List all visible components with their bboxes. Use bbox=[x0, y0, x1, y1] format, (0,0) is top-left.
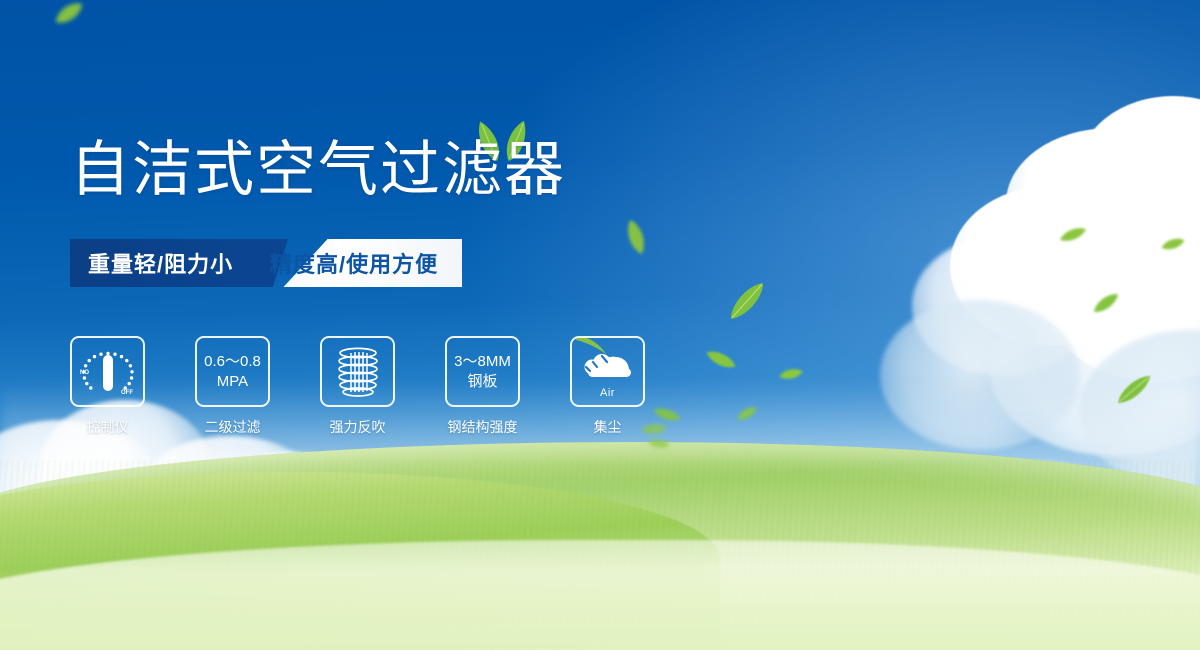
feature-item-backblow[interactable]: 强力反吹 bbox=[320, 336, 395, 437]
subtitle-bar: 重量轻/阻力小 精度高/使用方便 bbox=[70, 239, 462, 287]
filter-cartridge-icon bbox=[320, 336, 395, 407]
product-banner: 自洁式空气过滤器 重量轻/阻力小 精度高/使用方便 bbox=[0, 0, 1200, 650]
air-cloud-icon: Air bbox=[570, 336, 645, 407]
banner-content: 自洁式空气过滤器 重量轻/阻力小 精度高/使用方便 bbox=[0, 0, 1200, 650]
dial-gauge-icon: NO OFF bbox=[70, 336, 145, 407]
feature-item-steel[interactable]: 3～8MM 钢板 钢结构强度 bbox=[445, 336, 520, 437]
steel-line-2: 钢板 bbox=[467, 372, 497, 392]
pressure-text-icon: 0.6～0.8 MPA bbox=[195, 336, 270, 407]
steel-line-1: 3～8MM bbox=[454, 352, 511, 372]
pressure-line-2: MPA bbox=[217, 372, 248, 392]
feature-label: 钢结构强度 bbox=[448, 417, 518, 437]
feature-item-pressure[interactable]: 0.6～0.8 MPA 二级过滤 bbox=[195, 336, 270, 437]
feature-item-dust[interactable]: Air 集尘 bbox=[570, 336, 645, 437]
feature-label: 强力反吹 bbox=[330, 417, 386, 437]
feature-list: NO OFF 控制仪 0.6～0.8 MPA 二级过滤 bbox=[70, 336, 645, 437]
steel-plate-text-icon: 3～8MM 钢板 bbox=[445, 336, 520, 407]
subtitle-left-text: 重量轻/阻力小 bbox=[88, 239, 233, 287]
feature-label: 二级过滤 bbox=[205, 417, 261, 437]
feature-label: 集尘 bbox=[594, 417, 622, 437]
subtitle-right-text: 精度高/使用方便 bbox=[270, 239, 438, 287]
svg-text:NO: NO bbox=[80, 370, 89, 376]
feature-item-controller[interactable]: NO OFF 控制仪 bbox=[70, 336, 145, 437]
svg-text:OFF: OFF bbox=[121, 390, 133, 396]
air-caption: Air bbox=[572, 387, 643, 399]
pressure-line-1: 0.6～0.8 bbox=[204, 352, 261, 372]
page-title: 自洁式空气过滤器 bbox=[70, 140, 566, 200]
feature-label: 控制仪 bbox=[87, 417, 129, 437]
